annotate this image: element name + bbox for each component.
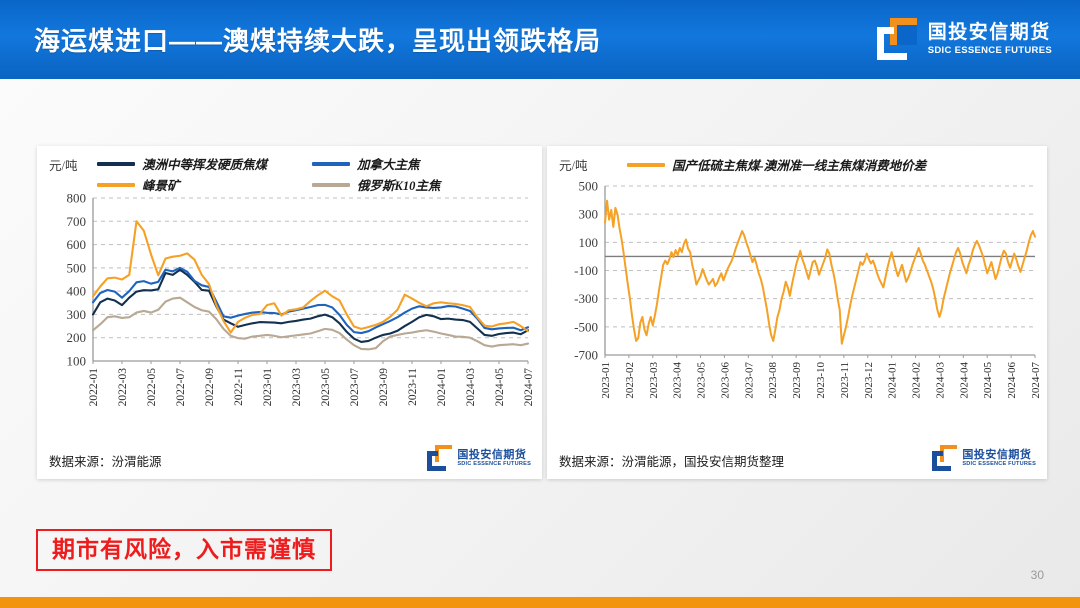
svg-text:2023-07: 2023-07 (743, 362, 755, 399)
slide-body: 元/吨 澳洲中等挥发硬质焦煤 加拿大主焦 峰景矿 俄罗斯K10主焦 100200… (0, 79, 1080, 608)
svg-text:2023-01: 2023-01 (600, 362, 612, 399)
right-chart-svg: -700-500-300-1001003005002023-012023-022… (547, 146, 1047, 479)
page-number: 30 (1031, 568, 1044, 582)
svg-text:500: 500 (67, 260, 87, 275)
svg-text:2022-03: 2022-03 (117, 368, 129, 407)
svg-text:100: 100 (67, 354, 87, 369)
svg-text:2024-01: 2024-01 (887, 362, 899, 399)
svg-text:2023-11: 2023-11 (407, 368, 419, 406)
svg-text:2022-11: 2022-11 (233, 368, 245, 406)
svg-text:2023-10: 2023-10 (815, 362, 827, 399)
svg-text:2024-04: 2024-04 (958, 362, 970, 399)
sdic-logo-icon (931, 445, 957, 471)
brand-name-en: SDIC ESSENCE FUTURES (928, 45, 1052, 57)
svg-text:2023-04: 2023-04 (672, 362, 684, 399)
chart-card-coking-coal-spread: 元/吨 国产低硫主焦煤-澳洲准一线主焦煤消费地价差 -700-500-300-1… (547, 146, 1047, 479)
brand-name-cn: 国投安信期货 (457, 449, 531, 461)
brand-name-cn: 国投安信期货 (962, 449, 1036, 461)
svg-text:300: 300 (579, 207, 599, 222)
svg-text:2024-05: 2024-05 (494, 368, 506, 407)
svg-text:2022-07: 2022-07 (175, 368, 187, 407)
right-chart-brand-logo: 国投安信期货 SDIC ESSENCE FUTURES (931, 445, 1036, 471)
svg-text:2023-05: 2023-05 (320, 368, 332, 407)
svg-text:-500: -500 (574, 319, 598, 334)
right-chart-source-note: 数据来源：汾渭能源，国投安信期货整理 (559, 451, 784, 470)
svg-text:700: 700 (67, 214, 87, 229)
risk-disclaimer-text: 期市有风险，入市需谨慎 (52, 538, 316, 561)
svg-text:2024-03: 2024-03 (934, 362, 946, 399)
sdic-logo-icon (426, 445, 452, 471)
svg-text:2024-07: 2024-07 (1030, 362, 1042, 399)
svg-text:2023-09: 2023-09 (378, 368, 390, 407)
sdic-logo-icon (875, 18, 919, 62)
svg-text:600: 600 (67, 237, 87, 252)
svg-text:2023-09: 2023-09 (791, 362, 803, 399)
svg-text:2023-12: 2023-12 (863, 362, 875, 399)
page-title: 海运煤进口——澳煤持续大跌，呈现出领跌格局 (34, 21, 601, 58)
svg-text:2023-02: 2023-02 (624, 362, 636, 399)
svg-text:2024-06: 2024-06 (1006, 362, 1018, 399)
left-chart-source-note: 数据来源：汾渭能源 (49, 451, 162, 470)
svg-text:-100: -100 (574, 263, 598, 278)
svg-text:2022-01: 2022-01 (88, 368, 100, 407)
svg-text:2024-07: 2024-07 (523, 368, 535, 407)
svg-text:2023-11: 2023-11 (839, 362, 851, 398)
svg-text:2023-08: 2023-08 (767, 362, 779, 399)
svg-text:2022-05: 2022-05 (146, 368, 158, 407)
svg-text:2024-02: 2024-02 (911, 362, 923, 399)
right-chart-plot-area: -700-500-300-1001003005002023-012023-022… (547, 146, 1047, 479)
left-chart-plot-area: 1002003004005006007008002022-012022-0320… (37, 146, 542, 479)
svg-text:2024-01: 2024-01 (436, 368, 448, 407)
svg-text:2022-09: 2022-09 (204, 368, 216, 407)
svg-text:2023-01: 2023-01 (262, 368, 274, 407)
svg-text:2023-05: 2023-05 (696, 362, 708, 399)
svg-text:2023-06: 2023-06 (719, 362, 731, 399)
left-chart-brand-logo: 国投安信期货 SDIC ESSENCE FUTURES (426, 445, 531, 471)
svg-text:300: 300 (67, 307, 87, 322)
brand-name-cn: 国投安信期货 (928, 23, 1052, 43)
risk-disclaimer-box: 期市有风险，入市需谨慎 (36, 529, 332, 571)
svg-text:2024-05: 2024-05 (982, 362, 994, 399)
page-header: 海运煤进口——澳煤持续大跌，呈现出领跌格局 国投安信期货 SDIC ESSENC… (0, 0, 1080, 79)
svg-text:-300: -300 (574, 291, 598, 306)
chart-card-coking-coal-prices: 元/吨 澳洲中等挥发硬质焦煤 加拿大主焦 峰景矿 俄罗斯K10主焦 100200… (37, 146, 542, 479)
svg-text:800: 800 (67, 191, 87, 206)
svg-text:2023-03: 2023-03 (291, 368, 303, 407)
svg-text:500: 500 (579, 179, 599, 194)
brand-name-en: SDIC ESSENCE FUTURES (962, 461, 1036, 468)
svg-text:2024-03: 2024-03 (465, 368, 477, 407)
brand-name-en: SDIC ESSENCE FUTURES (457, 461, 531, 468)
header-brand-logo: 国投安信期货 SDIC ESSENCE FUTURES (875, 18, 1052, 62)
svg-text:100: 100 (579, 235, 599, 250)
left-chart-svg: 1002003004005006007008002022-012022-0320… (37, 146, 542, 479)
svg-text:-700: -700 (574, 348, 598, 363)
svg-text:2023-07: 2023-07 (349, 368, 361, 407)
svg-text:400: 400 (67, 284, 87, 299)
svg-text:2023-03: 2023-03 (648, 362, 660, 399)
bottom-accent-bar (0, 597, 1080, 608)
svg-text:200: 200 (67, 330, 87, 345)
